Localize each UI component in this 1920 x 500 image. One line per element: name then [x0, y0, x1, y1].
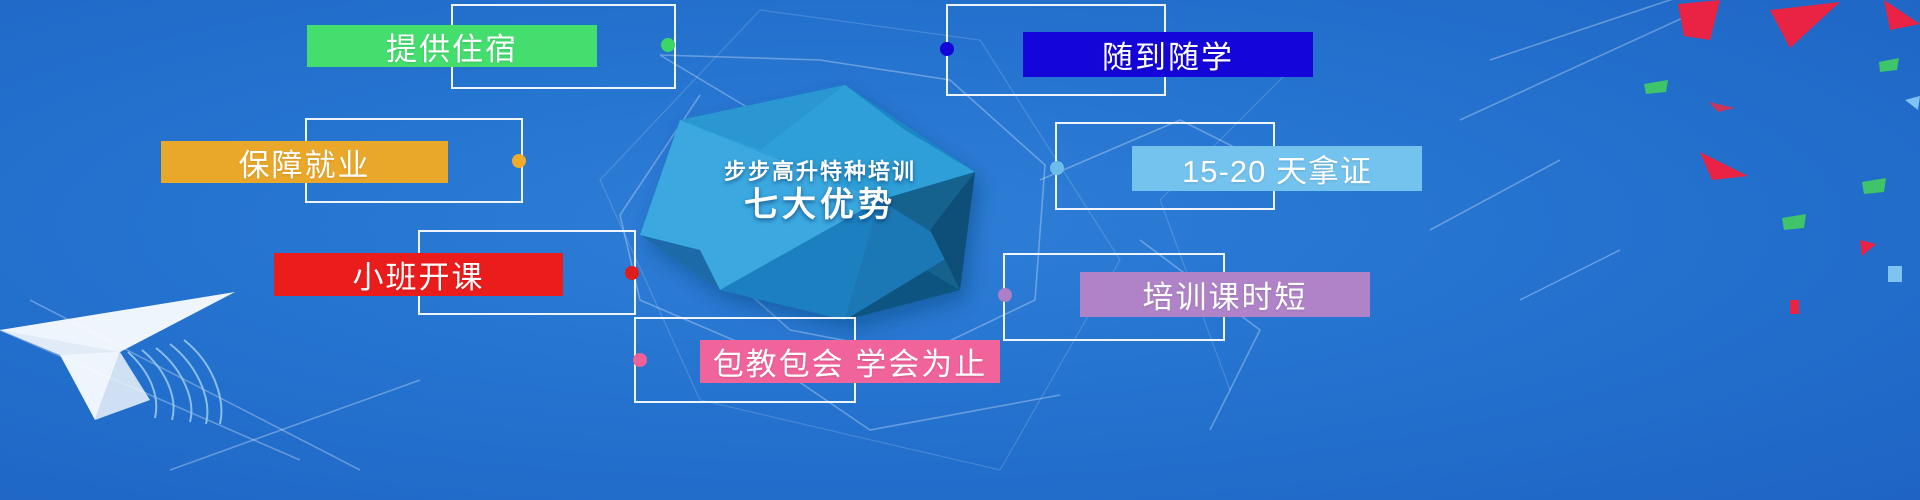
- dot-anytime: [940, 42, 954, 56]
- label-guarantee[interactable]: 包教包会 学会为止: [700, 340, 1000, 383]
- label-employment[interactable]: 保障就业: [161, 141, 448, 183]
- promo-banner: 步步高升特种培训 七大优势 提供住宿 保: [0, 0, 1920, 500]
- dot-accommodation: [661, 38, 675, 52]
- dot-days: [1050, 161, 1064, 175]
- label-short-course[interactable]: 培训课时短: [1080, 272, 1370, 317]
- label-days[interactable]: 15-20 天拿证: [1132, 146, 1422, 191]
- dot-employment: [512, 154, 526, 168]
- dot-guarantee: [633, 353, 647, 367]
- label-small-class[interactable]: 小班开课: [274, 253, 563, 296]
- label-anytime[interactable]: 随到随学: [1023, 32, 1313, 77]
- dot-small-class: [625, 266, 639, 280]
- dot-short-course: [998, 288, 1012, 302]
- label-accommodation[interactable]: 提供住宿: [307, 25, 597, 67]
